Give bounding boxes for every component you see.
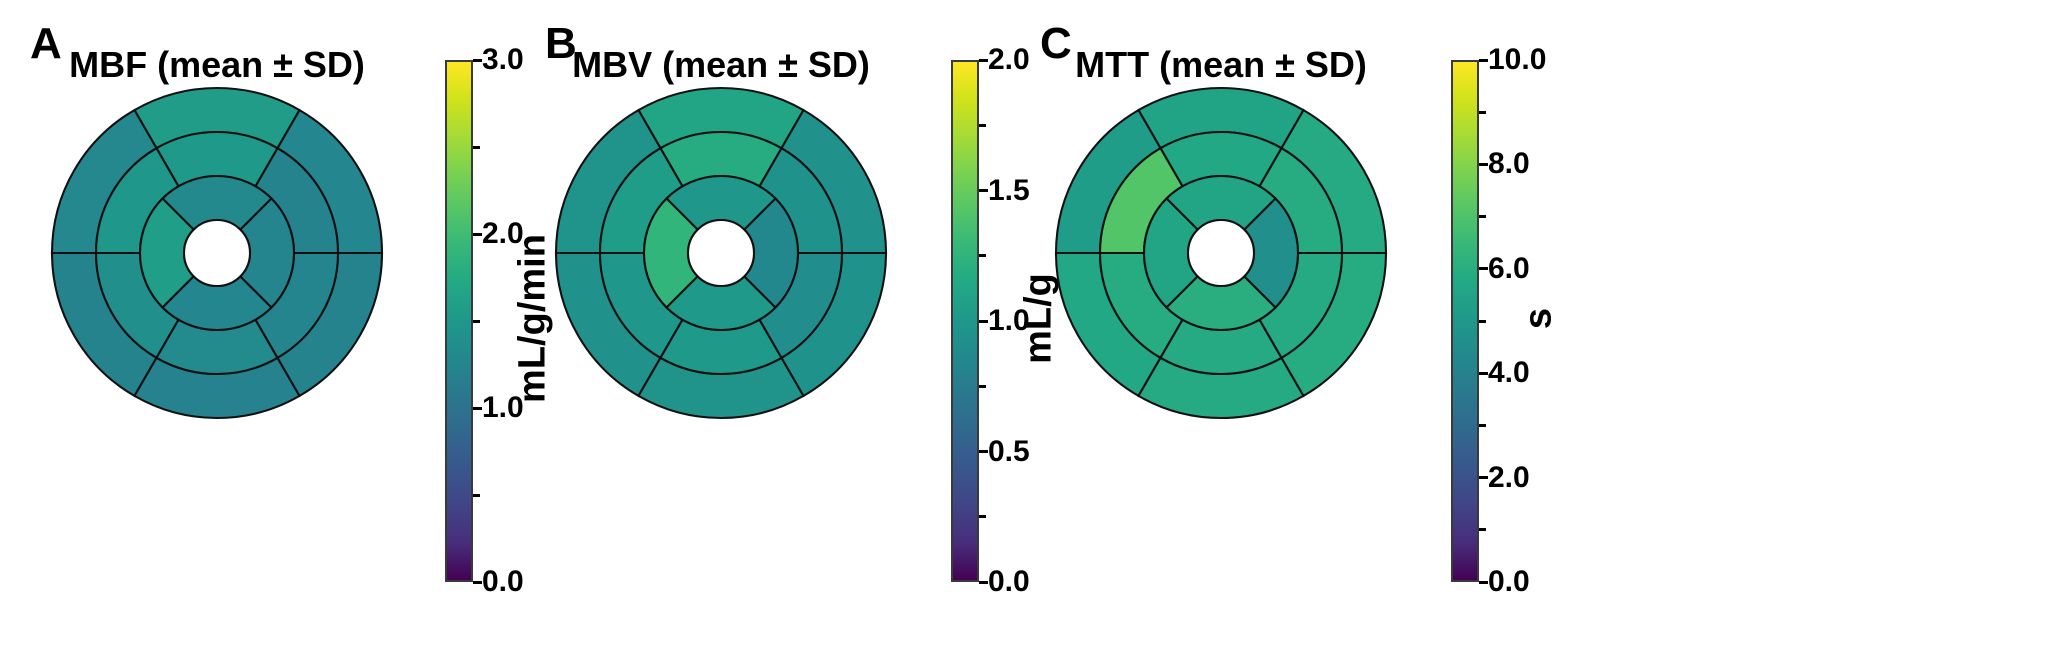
colorbar-tick [473,407,482,410]
colorbar-minor-tick [473,320,480,323]
panel-title-b: MBV (mean ± SD) [481,47,961,83]
colorbar-minor-tick [979,515,986,518]
colorbar-tick-label: 0.0 [1488,567,1530,597]
colorbar-tick [979,581,988,584]
colorbar-axis-title-c: s [1518,189,1561,449]
center-hole [184,220,250,286]
colorbar-minor-tick [473,494,480,497]
colorbar-minor-tick [1479,424,1486,427]
colorbar-minor-tick [1479,320,1486,323]
colorbar-tick [979,320,988,323]
colorbar-tick-label: 0.0 [988,567,1030,597]
colorbar-tick [473,233,482,236]
figure-canvas: AMBF (mean ± SD)0.01.02.03.0mL/g/minBMBV… [0,0,2064,648]
panel-title-a: MBF (mean ± SD) [0,47,457,83]
colorbar-tick-label: 8.0 [1488,149,1530,179]
colorbar-minor-tick [979,124,986,127]
colorbar-minor-tick [473,146,480,149]
colorbar-gradient-c [1451,60,1479,582]
colorbar-tick-label: 0.0 [482,567,524,597]
colorbar-tick [1479,372,1488,375]
bullseye-plot-b [552,84,890,422]
colorbar-minor-tick [979,385,986,388]
colorbar-tick [1479,163,1488,166]
panel-title-c: MTT (mean ± SD) [981,47,1461,83]
bullseye-plot-c [1052,84,1390,422]
colorbar-axis-title-a: mL/g/min [512,189,555,449]
colorbar-tick [1479,59,1488,62]
bullseye-plot-a [48,84,386,422]
colorbar-minor-tick [979,254,986,257]
colorbar-minor-tick [1479,215,1486,218]
center-hole [688,220,754,286]
colorbar-tick-label: 2.0 [1488,463,1530,493]
colorbar-tick [1479,267,1488,270]
colorbar-tick [1479,476,1488,479]
colorbar-minor-tick [1479,111,1486,114]
colorbar-tick [979,450,988,453]
colorbar-tick [1479,581,1488,584]
colorbar-gradient-b [951,60,979,582]
colorbar-tick-label: 10.0 [1488,45,1546,75]
colorbar-tick [979,189,988,192]
colorbar-gradient-a [445,60,473,582]
center-hole [1188,220,1254,286]
colorbar-minor-tick [1479,528,1486,531]
colorbar-tick [473,581,482,584]
